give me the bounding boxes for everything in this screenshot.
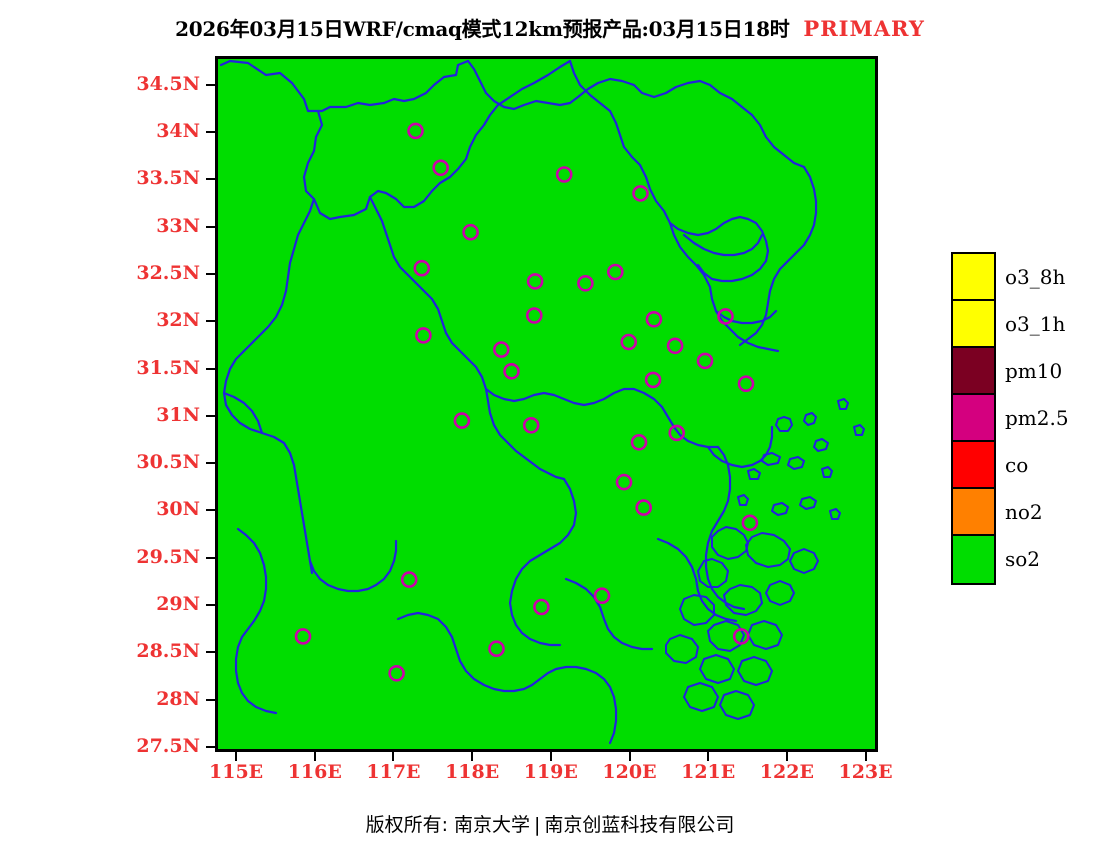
legend-color-swatch [953, 348, 994, 395]
coastal-islands [666, 399, 864, 719]
station-marker[interactable] [494, 343, 508, 357]
x-axis-tick [629, 752, 631, 761]
y-axis-label: 27.5N [0, 735, 200, 757]
y-axis-label: 32.5N [0, 262, 200, 284]
x-axis-tick [392, 752, 394, 761]
legend-color-swatch [953, 536, 994, 583]
x-axis-tick [235, 752, 237, 761]
legend-item-o31h[interactable]: o3_1h [953, 301, 994, 348]
legend-color-swatch [953, 395, 994, 442]
station-marker[interactable] [595, 589, 609, 603]
station-marker[interactable] [415, 261, 429, 275]
y-axis-label: 32N [0, 309, 200, 331]
station-marker[interactable] [296, 629, 310, 643]
station-marker[interactable] [505, 364, 519, 378]
legend-item-label: o3_8h [1005, 265, 1065, 289]
station-marker[interactable] [617, 475, 631, 489]
legend-item-pm25[interactable]: pm2.5 [953, 395, 994, 442]
station-marker[interactable] [670, 426, 684, 440]
footer-owner: 版权所有: 南京大学 [366, 814, 530, 836]
y-axis-label: 28N [0, 688, 200, 710]
station-marker[interactable] [464, 225, 478, 239]
station-marker[interactable] [490, 642, 504, 656]
station-marker[interactable] [647, 312, 661, 326]
legend-color-swatch [953, 301, 994, 348]
y-axis-tick [206, 368, 215, 370]
legend-item-label: so2 [1005, 547, 1040, 571]
y-axis-tick [206, 509, 215, 511]
x-axis-tick [471, 752, 473, 761]
page-title: 2026年03月15日WRF/cmaq模式12km预报产品:03月15日18时P… [0, 13, 1100, 42]
x-axis-tick [707, 752, 709, 761]
legend-item-pm10[interactable]: pm10 [953, 348, 994, 395]
y-axis-tick [206, 557, 215, 559]
x-axis-tick [786, 752, 788, 761]
y-axis-label: 29N [0, 593, 200, 615]
y-axis-tick [206, 462, 215, 464]
station-marker[interactable] [528, 274, 542, 288]
station-marker[interactable] [557, 168, 571, 182]
legend-item-o38h[interactable]: o3_8h [953, 254, 994, 301]
y-axis-tick [206, 273, 215, 275]
y-axis-label: 34N [0, 120, 200, 142]
station-marker[interactable] [634, 186, 648, 200]
station-marker[interactable] [622, 335, 636, 349]
station-marker[interactable] [739, 377, 753, 391]
y-axis-label: 34.5N [0, 73, 200, 95]
y-axis-tick [206, 415, 215, 417]
y-axis-tick [206, 131, 215, 133]
y-axis-tick [206, 226, 215, 228]
legend-item-so2[interactable]: so2 [953, 536, 994, 583]
station-marker[interactable] [402, 573, 416, 587]
station-marker[interactable] [668, 339, 682, 353]
footer-separator: | [534, 814, 540, 836]
station-marker[interactable] [527, 309, 541, 323]
station-marker[interactable] [578, 276, 592, 290]
station-marker[interactable] [455, 414, 469, 428]
station-marker[interactable] [719, 309, 733, 323]
y-axis-tick [206, 699, 215, 701]
y-axis-tick [206, 84, 215, 86]
legend-item-no2[interactable]: no2 [953, 489, 994, 536]
legend-panel: o3_8ho3_1hpm10pm2.5cono2so2 [951, 252, 996, 585]
title-main-text: 2026年03月15日WRF/cmaq模式12km预报产品:03月15日18时 [175, 17, 789, 41]
y-axis-tick [206, 651, 215, 653]
legend-item-co[interactable]: co [953, 442, 994, 489]
station-marker[interactable] [608, 265, 622, 279]
map-plot-area[interactable] [215, 56, 878, 752]
legend-color-swatch [953, 489, 994, 536]
legend-item-label: o3_1h [1005, 312, 1065, 336]
station-marker[interactable] [534, 600, 548, 614]
footer-company: 南京创蓝科技有限公司 [544, 814, 734, 836]
x-axis-label: 123E [816, 761, 916, 783]
station-marker[interactable] [390, 666, 404, 680]
station-marker[interactable] [416, 328, 430, 342]
y-axis-tick [206, 604, 215, 606]
station-marker[interactable] [698, 354, 712, 368]
y-axis-label: 29.5N [0, 546, 200, 568]
station-marker[interactable] [743, 516, 757, 530]
station-marker[interactable] [646, 373, 660, 387]
map-canvas [218, 59, 875, 749]
legend-item-label: co [1005, 453, 1028, 477]
x-axis-tick [865, 752, 867, 761]
x-axis-tick [550, 752, 552, 761]
y-axis-label: 33N [0, 215, 200, 237]
legend-item-label: no2 [1005, 500, 1043, 524]
title-primary-badge: PRIMARY [803, 16, 924, 41]
legend-item-label: pm10 [1005, 359, 1062, 383]
y-axis-label: 33.5N [0, 167, 200, 189]
y-axis-tick [206, 178, 215, 180]
station-marker[interactable] [434, 161, 448, 175]
station-marker[interactable] [632, 435, 646, 449]
y-axis-tick [206, 746, 215, 748]
station-marker[interactable] [409, 124, 423, 138]
y-axis-label: 30N [0, 498, 200, 520]
legend-color-swatch [953, 254, 994, 301]
y-axis-label: 30.5N [0, 451, 200, 473]
station-marker[interactable] [637, 501, 651, 515]
y-axis-label: 31.5N [0, 357, 200, 379]
copyright-footer: 版权所有: 南京大学|南京创蓝科技有限公司 [0, 810, 1100, 837]
y-axis-label: 31N [0, 404, 200, 426]
x-axis-tick [314, 752, 316, 761]
y-axis-tick [206, 320, 215, 322]
station-marker[interactable] [524, 418, 538, 432]
y-axis-label: 28.5N [0, 640, 200, 662]
legend-item-label: pm2.5 [1005, 406, 1069, 430]
legend-color-swatch [953, 442, 994, 489]
province-boundary-lines [221, 61, 816, 743]
